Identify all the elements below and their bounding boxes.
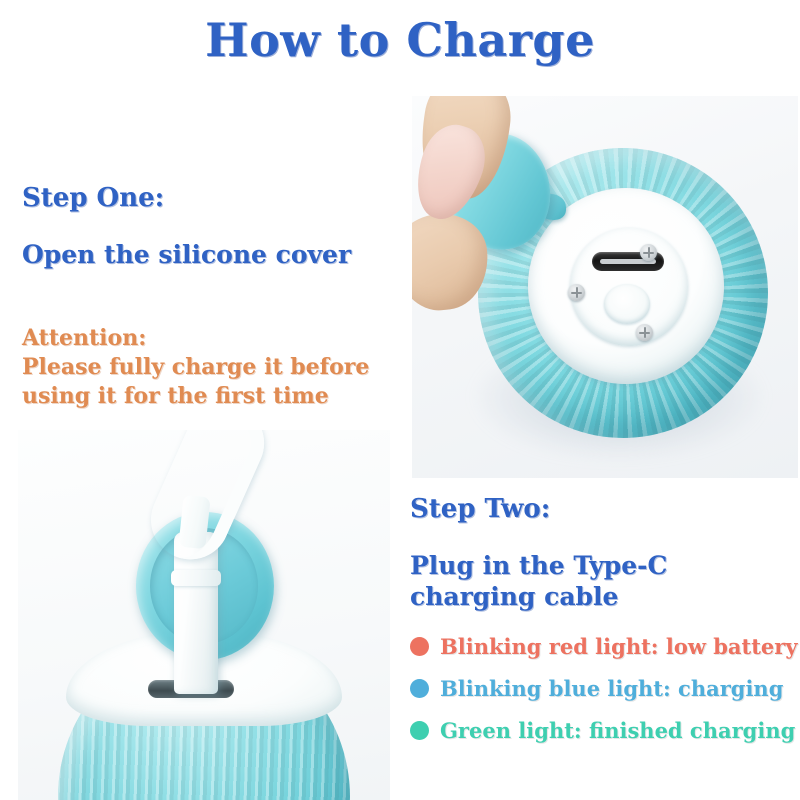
led-label-red: Blinking red light: low battery (440, 634, 798, 659)
led-dot-blue-icon (410, 679, 429, 698)
attention-label: Attention: (22, 325, 146, 351)
screw-icon (640, 244, 657, 261)
page-title: How to Charge (0, 16, 800, 64)
step-two-label: Step Two: (410, 494, 550, 524)
list-item: Blinking blue light: charging (410, 667, 800, 709)
usb-c-plug-collar (171, 570, 221, 586)
led-dot-green-icon (410, 721, 429, 740)
step-one-instruction: Open the silicone cover (22, 240, 351, 271)
photo-open-silicone-cover (412, 96, 798, 478)
power-button (604, 284, 650, 324)
attention-text: Please fully charge it before using it f… (22, 353, 422, 410)
list-item: Green light: finished charging (410, 709, 800, 751)
step-one-label: Step One: (22, 183, 164, 213)
led-indicator-list: Blinking red light: low battery Blinking… (410, 625, 800, 751)
screw-icon (568, 284, 585, 301)
list-item: Blinking red light: low battery (410, 625, 800, 667)
led-label-blue: Blinking blue light: charging (440, 676, 783, 701)
device-charging-plate (570, 228, 688, 346)
led-label-green: Green light: finished charging (440, 718, 795, 743)
screw-icon (636, 324, 653, 341)
step-two-instruction: Plug in the Type-C charging cable (410, 551, 795, 612)
led-dot-red-icon (410, 637, 429, 656)
photo-plug-in-cable (18, 430, 390, 800)
infographic-page: How to Charge Step One: Open the silicon… (0, 0, 800, 800)
